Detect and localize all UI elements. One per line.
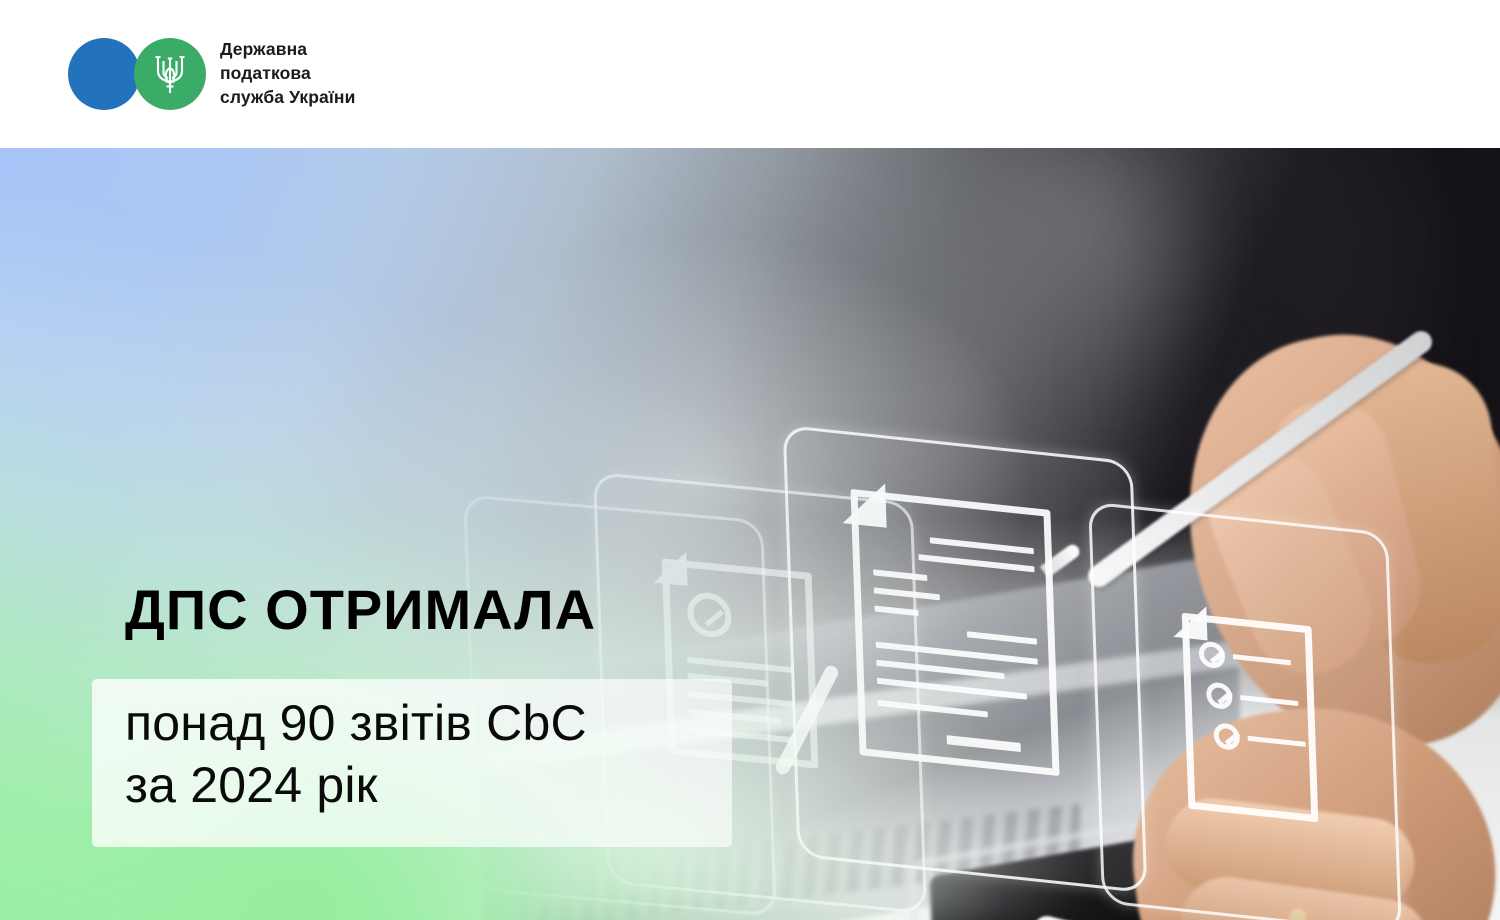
logo-circles (68, 38, 206, 110)
site-header: Державна податкова служба України (0, 0, 1500, 148)
page-subtitle: понад 90 звітів CbC за 2024 рік (125, 693, 587, 816)
banner-page: Державна податкова служба України (0, 0, 1500, 920)
hero-banner: ДПС ОТРИМАЛА понад 90 звітів CbC за 2024… (0, 148, 1500, 920)
organization-name: Державна податкова служба України (220, 38, 355, 109)
organization-logo[interactable]: Державна податкова служба України (68, 38, 355, 110)
blue-circle-icon (68, 38, 140, 110)
page-title: ДПС ОТРИМАЛА (125, 582, 596, 638)
trident-icon (134, 38, 206, 110)
